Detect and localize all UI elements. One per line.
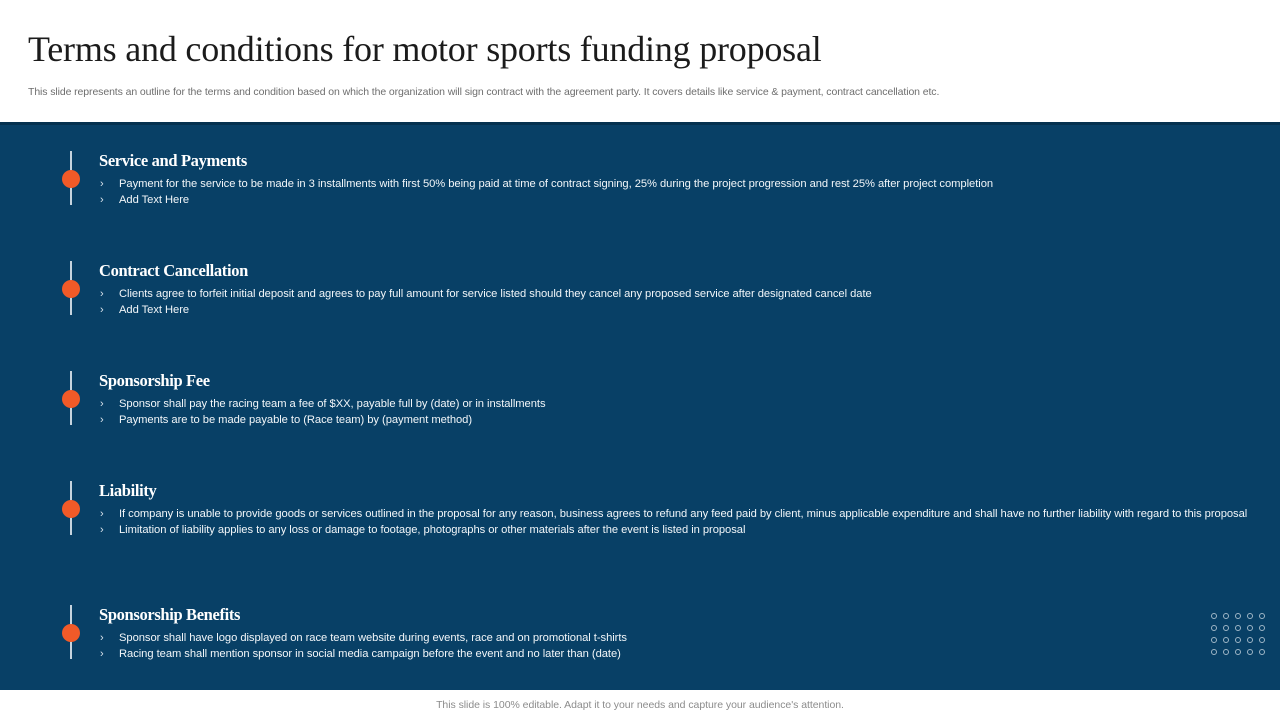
bullet-list: ›Sponsor shall have logo displayed on ra…: [99, 630, 1249, 662]
list-item-text: Add Text Here: [119, 194, 189, 206]
list-item: ›Racing team shall mention sponsor in so…: [99, 646, 1249, 662]
list-item-text: Sponsor shall have logo displayed on rac…: [119, 632, 627, 644]
bullet-list: ›If company is unable to provide goods o…: [99, 506, 1249, 538]
list-item: ›Payment for the service to be made in 3…: [99, 176, 1249, 192]
chevron-right-icon: ›: [100, 396, 104, 412]
decor-dot-icon: [1247, 625, 1253, 631]
decor-dot-icon: [1211, 649, 1217, 655]
list-item-text: Sponsor shall pay the racing team a fee …: [119, 398, 546, 410]
section-body: Sponsorship Fee›Sponsor shall pay the ra…: [99, 371, 1249, 428]
chevron-right-icon: ›: [100, 192, 104, 208]
decor-dot-icon: [1259, 649, 1265, 655]
decor-dot-icon: [1235, 613, 1241, 619]
decor-dot-icon: [1247, 649, 1253, 655]
section-body: Service and Payments›Payment for the ser…: [99, 151, 1249, 208]
list-item: ›Sponsor shall pay the racing team a fee…: [99, 396, 1249, 412]
content-panel: Service and Payments›Payment for the ser…: [0, 122, 1280, 690]
list-item-text: Payment for the service to be made in 3 …: [119, 178, 993, 190]
section-heading: Sponsorship Fee: [99, 371, 1249, 391]
section-heading: Sponsorship Benefits: [99, 605, 1249, 625]
decor-dot-icon: [1247, 613, 1253, 619]
list-item: ›Limitation of liability applies to any …: [99, 522, 1249, 538]
decor-dot-icon: [1211, 613, 1217, 619]
chevron-right-icon: ›: [100, 286, 104, 302]
decor-dot-icon: [1235, 637, 1241, 643]
section-heading: Contract Cancellation: [99, 261, 1249, 281]
decor-dot-icon: [1259, 625, 1265, 631]
section-heading: Service and Payments: [99, 151, 1249, 171]
list-item-text: Payments are to be made payable to (Race…: [119, 414, 472, 426]
bullet-list: ›Clients agree to forfeit initial deposi…: [99, 286, 1249, 318]
list-item: ›Clients agree to forfeit initial deposi…: [99, 286, 1249, 302]
timeline-dot-icon: [62, 280, 80, 298]
decor-dot-icon: [1235, 625, 1241, 631]
list-item-text: If company is unable to provide goods or…: [119, 508, 1247, 520]
list-item-text: Limitation of liability applies to any l…: [119, 524, 745, 536]
list-item: ›Add Text Here: [99, 192, 1249, 208]
decor-dot-icon: [1235, 649, 1241, 655]
decor-dot-icon: [1211, 625, 1217, 631]
chevron-right-icon: ›: [100, 646, 104, 662]
decor-dot-icon: [1247, 637, 1253, 643]
chevron-right-icon: ›: [100, 302, 104, 318]
decor-dot-icon: [1259, 637, 1265, 643]
page-title: Terms and conditions for motor sports fu…: [28, 28, 822, 70]
footer-note: This slide is 100% editable. Adapt it to…: [436, 699, 844, 711]
bullet-list: ›Sponsor shall pay the racing team a fee…: [99, 396, 1249, 428]
chevron-right-icon: ›: [100, 522, 104, 538]
chevron-right-icon: ›: [100, 630, 104, 646]
decor-dot-icon: [1223, 649, 1229, 655]
chevron-right-icon: ›: [100, 506, 104, 522]
list-item-text: Clients agree to forfeit initial deposit…: [119, 288, 872, 300]
list-item-text: Racing team shall mention sponsor in soc…: [119, 648, 621, 660]
chevron-right-icon: ›: [100, 176, 104, 192]
decor-dot-icon: [1223, 637, 1229, 643]
list-item: ›Add Text Here: [99, 302, 1249, 318]
timeline-dot-icon: [62, 500, 80, 518]
timeline-dot-icon: [62, 624, 80, 642]
slide-header: Terms and conditions for motor sports fu…: [0, 0, 1280, 122]
chevron-right-icon: ›: [100, 412, 104, 428]
section-body: Liability›If company is unable to provid…: [99, 481, 1249, 538]
list-item: ›Payments are to be made payable to (Rac…: [99, 412, 1249, 428]
decor-dot-icon: [1259, 613, 1265, 619]
dot-grid-decoration: [1208, 610, 1268, 658]
timeline-dot-icon: [62, 390, 80, 408]
list-item: ›If company is unable to provide goods o…: [99, 506, 1249, 522]
section-heading: Liability: [99, 481, 1249, 501]
page-subtitle: This slide represents an outline for the…: [28, 86, 1148, 98]
decor-dot-icon: [1223, 613, 1229, 619]
list-item: ›Sponsor shall have logo displayed on ra…: [99, 630, 1249, 646]
decor-dot-icon: [1223, 625, 1229, 631]
decor-dot-icon: [1211, 637, 1217, 643]
list-item-text: Add Text Here: [119, 304, 189, 316]
bullet-list: ›Payment for the service to be made in 3…: [99, 176, 1249, 208]
slide-footer: This slide is 100% editable. Adapt it to…: [0, 690, 1280, 720]
section-body: Sponsorship Benefits›Sponsor shall have …: [99, 605, 1249, 662]
timeline-dot-icon: [62, 170, 80, 188]
section-body: Contract Cancellation›Clients agree to f…: [99, 261, 1249, 318]
